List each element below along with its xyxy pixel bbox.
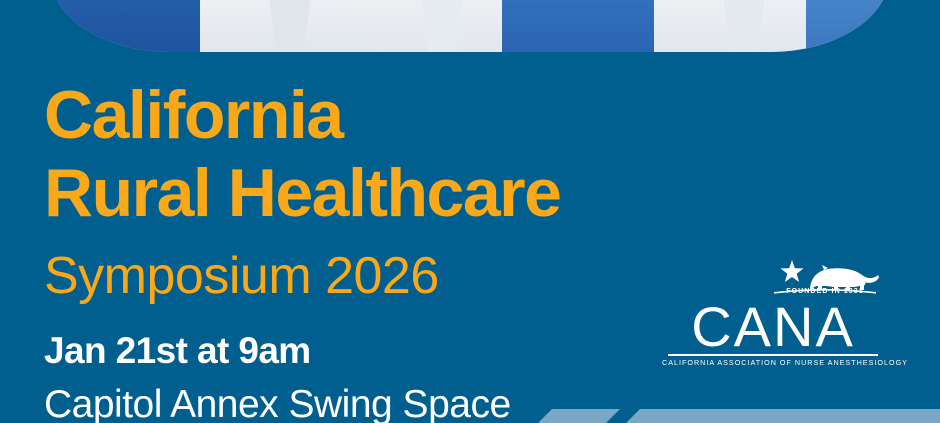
cana-wordmark: CANA — [662, 299, 884, 355]
hero-person-6 — [806, 0, 890, 52]
accent-band-right — [626, 409, 940, 423]
cana-founded-text: FOUNDED IN 1931 — [766, 288, 884, 295]
star-icon — [781, 260, 804, 282]
hero-photo — [50, 0, 890, 52]
event-venue: Capitol Annex Swing Space — [44, 383, 511, 423]
accent-band-left — [538, 409, 620, 423]
page-title: California Rural Healthcare — [44, 76, 764, 232]
event-poster: California Rural Healthcare Symposium 20… — [0, 0, 940, 423]
hero-photo-image — [50, 0, 890, 52]
bear-icon — [810, 265, 879, 290]
cana-divider — [668, 354, 878, 356]
subtitle: Symposium 2026 — [44, 247, 439, 305]
headline-line-2: Rural Healthcare — [44, 154, 764, 232]
headline-line-1: California — [44, 76, 764, 154]
cana-logo: FOUNDED IN 1931 CANA CALIFORNIA ASSOCIAT… — [662, 256, 884, 368]
cana-tagline: CALIFORNIA ASSOCIATION OF NURSE ANESTHES… — [662, 358, 884, 367]
event-date: Jan 21st at 9am — [44, 330, 311, 372]
